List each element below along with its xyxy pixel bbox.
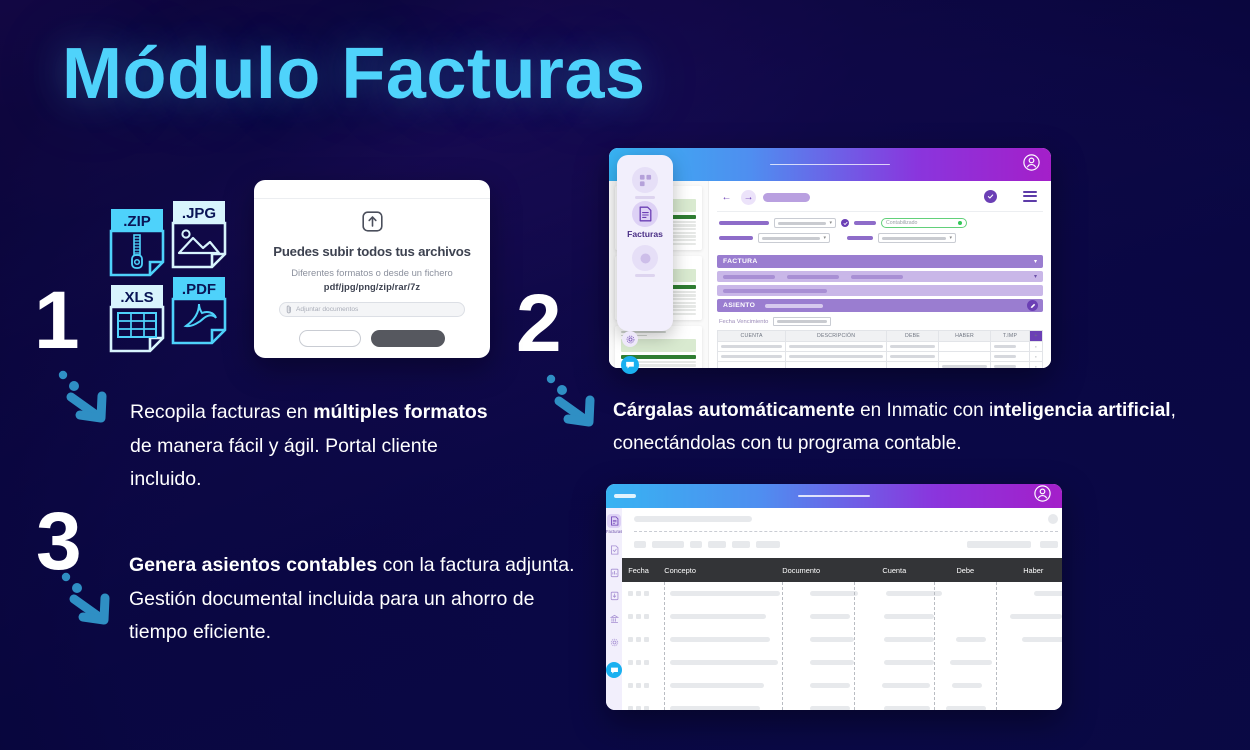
ledger-mockup: Facturas [606,484,1062,710]
due-date-field: Fecha Vencimiento [717,317,1043,326]
svg-text:.PDF: .PDF [182,281,216,298]
col-cuenta: Cuenta [854,566,934,575]
ledger-table-rows [622,582,1062,710]
upload-card-title: Puedes subir todos tus archivos [273,244,471,259]
sidebar-label-facturas: Facturas [606,529,622,534]
card-header-divider [254,180,490,199]
pdf-file-icon: .PDF [170,274,228,346]
filter-chip[interactable] [967,541,1031,548]
table-row: ▪ [718,342,1043,352]
page-title: Módulo Facturas [62,38,646,110]
ledger-app-body: Facturas [606,508,1062,710]
filter-chip[interactable] [690,541,702,548]
upload-card-subtitle: Diferentes formatos o desde un fichero p… [291,266,453,293]
invoice-detail-panel: ← → ▾ [709,181,1051,368]
step-description-1: Recopila facturas en múltiples formatos … [130,396,495,497]
asiento-table: CUENTA DESCRIPCIÓN DEBE HABER T.IMP + ▪ … [717,330,1043,368]
step-description-3: Genera asientos contables con la factura… [129,549,589,650]
factura-fields-row: ▾ [717,271,1043,282]
circle-icon [632,245,658,271]
invoice-icon [632,201,658,227]
col-concepto: Concepto [664,566,782,575]
col-documento: Documento [782,566,854,575]
ledger-app-window: Facturas [606,484,1062,710]
table-header-haber: HABER [939,331,991,342]
filter-chip[interactable] [732,541,750,548]
paperclip-icon [286,305,292,314]
menu-icon[interactable] [1023,191,1037,204]
invoice-app-window: ← → ▾ [609,148,1051,368]
svg-text:.XLS: .XLS [120,289,153,306]
ledger-table-header: Fecha Concepto Documento Cuenta Debe Hab… [622,558,1062,582]
filter-chip[interactable] [1040,541,1058,548]
approved-check-icon[interactable] [984,190,997,203]
sidebar-label-facturas: Facturas [627,229,663,239]
factura-fields-row [717,285,1043,296]
upload-card: Puedes subir todos tus archivos Diferent… [254,180,490,358]
file-format-icons: .ZIP .JPG .XLS [108,198,243,358]
sidebar-item-dashboard[interactable] [617,167,673,199]
edit-pencil-icon[interactable] [1027,300,1038,311]
sidebar-item-other[interactable] [617,245,673,277]
avatar[interactable] [1023,154,1040,176]
upload-formats-list: pdf/jpg/png/zip/rar/7z [324,281,420,292]
ledger-sidebar: Facturas [606,508,622,710]
status-badge-label: Contabilizado [886,220,917,226]
table-header-row: CUENTA DESCRIPCIÓN DEBE HABER T.IMP + [718,331,1043,342]
ledger-search-input[interactable] [634,516,752,522]
back-button[interactable]: ← [719,190,734,205]
zip-file-icon: .ZIP [108,206,166,278]
submit-button[interactable] [371,330,445,347]
topbar-search-field[interactable] [798,495,870,497]
ledger-main: Fecha Concepto Documento Cuenta Debe Hab… [622,508,1062,710]
table-header-descripcion: DESCRIPCIÓN [786,331,887,342]
step-number-1: 1 [34,280,78,362]
asiento-label: ASIENTO [723,302,755,309]
col-fecha: Fecha [628,566,664,575]
chat-icon[interactable] [621,356,639,374]
gear-icon[interactable] [622,331,638,347]
jpg-file-icon: .JPG [170,198,228,270]
factura-section-header[interactable]: FACTURA ▾ [717,255,1043,268]
asiento-section-header[interactable]: ASIENTO [717,299,1043,312]
step-description-2: Cárgalas automáticamente en Inmatic con … [613,395,1213,460]
status-badge: Contabilizado [881,218,967,228]
invoice-app-body: ← → ▾ [609,181,1051,368]
upload-card-actions [299,330,445,347]
filter-chips [634,532,1058,558]
filter-chip[interactable] [708,541,726,548]
invoice-sidebar: Facturas [617,155,673,331]
table-header-cuenta: CUENTA [718,331,786,342]
gear-icon[interactable] [607,635,621,649]
toolbar-action-icon[interactable] [1048,514,1058,524]
down-right-arrow-icon [55,368,117,431]
record-title-pill [763,193,810,202]
svg-text:.JPG: .JPG [182,205,216,222]
dashboard-icon [632,167,658,193]
col-debe: Debe [934,566,996,575]
table-row: ▪ [718,362,1043,369]
verified-icon [841,219,849,227]
factura-label: FACTURA [723,258,758,265]
due-date-input[interactable] [773,317,831,326]
filter-select[interactable]: ▾ [758,233,830,243]
filter-chip[interactable] [756,541,780,548]
bank-icon[interactable] [607,612,621,626]
sidebar-item-facturas[interactable]: Facturas [617,201,673,239]
status-dot-icon [958,221,962,225]
table-header-timp: T.IMP [991,331,1030,342]
filter-select[interactable]: ▾ [878,233,956,243]
import-icon[interactable] [607,589,621,603]
attach-documents-input[interactable]: Adjuntar documentos [279,302,465,317]
filter-chip[interactable] [652,541,684,548]
chevron-down-icon[interactable]: ▾ [1034,273,1037,280]
invoice-icon [607,514,621,528]
app-topbar [609,148,1051,181]
filter-select[interactable]: ▾ [774,218,836,228]
upload-formats-text: Diferentes formatos o desde un fichero [291,267,453,278]
table-row: ▪ [718,352,1043,362]
chat-icon[interactable] [606,662,622,678]
table-header-debe: DEBE [887,331,939,342]
topbar-search-field[interactable] [770,164,890,166]
chevron-down-icon[interactable]: ▾ [1034,258,1037,265]
svg-text:.ZIP: .ZIP [123,213,151,230]
due-date-label: Fecha Vencimiento [719,319,768,325]
upload-box-icon [362,211,383,237]
step-number-2: 2 [516,283,560,365]
avatar[interactable] [1034,485,1051,507]
ledger-toolbar [622,508,1062,558]
detail-navbar: ← → [717,187,1043,212]
filter-chip[interactable] [634,541,646,548]
down-right-arrow-icon [543,372,605,435]
attach-input-placeholder: Adjuntar documentos [296,306,358,313]
down-right-arrow-icon [58,570,120,633]
add-row-button[interactable]: + [1030,331,1043,342]
doc-icon[interactable] [607,543,621,557]
invoice-detail-mockup: ← → ▾ [609,148,1051,368]
app-logo [614,494,636,498]
invoice-sidebar-bottom [621,331,639,374]
col-haber: Haber [996,566,1062,575]
app-topbar [606,484,1062,508]
forward-button[interactable]: → [741,190,756,205]
xls-file-icon: .XLS [108,282,166,354]
report-icon[interactable] [607,566,621,580]
sidebar-item-facturas[interactable]: Facturas [606,514,622,534]
cancel-button[interactable] [299,330,361,347]
detail-filters: ▾ Contabilizado ▾ ▾ [717,212,1043,252]
